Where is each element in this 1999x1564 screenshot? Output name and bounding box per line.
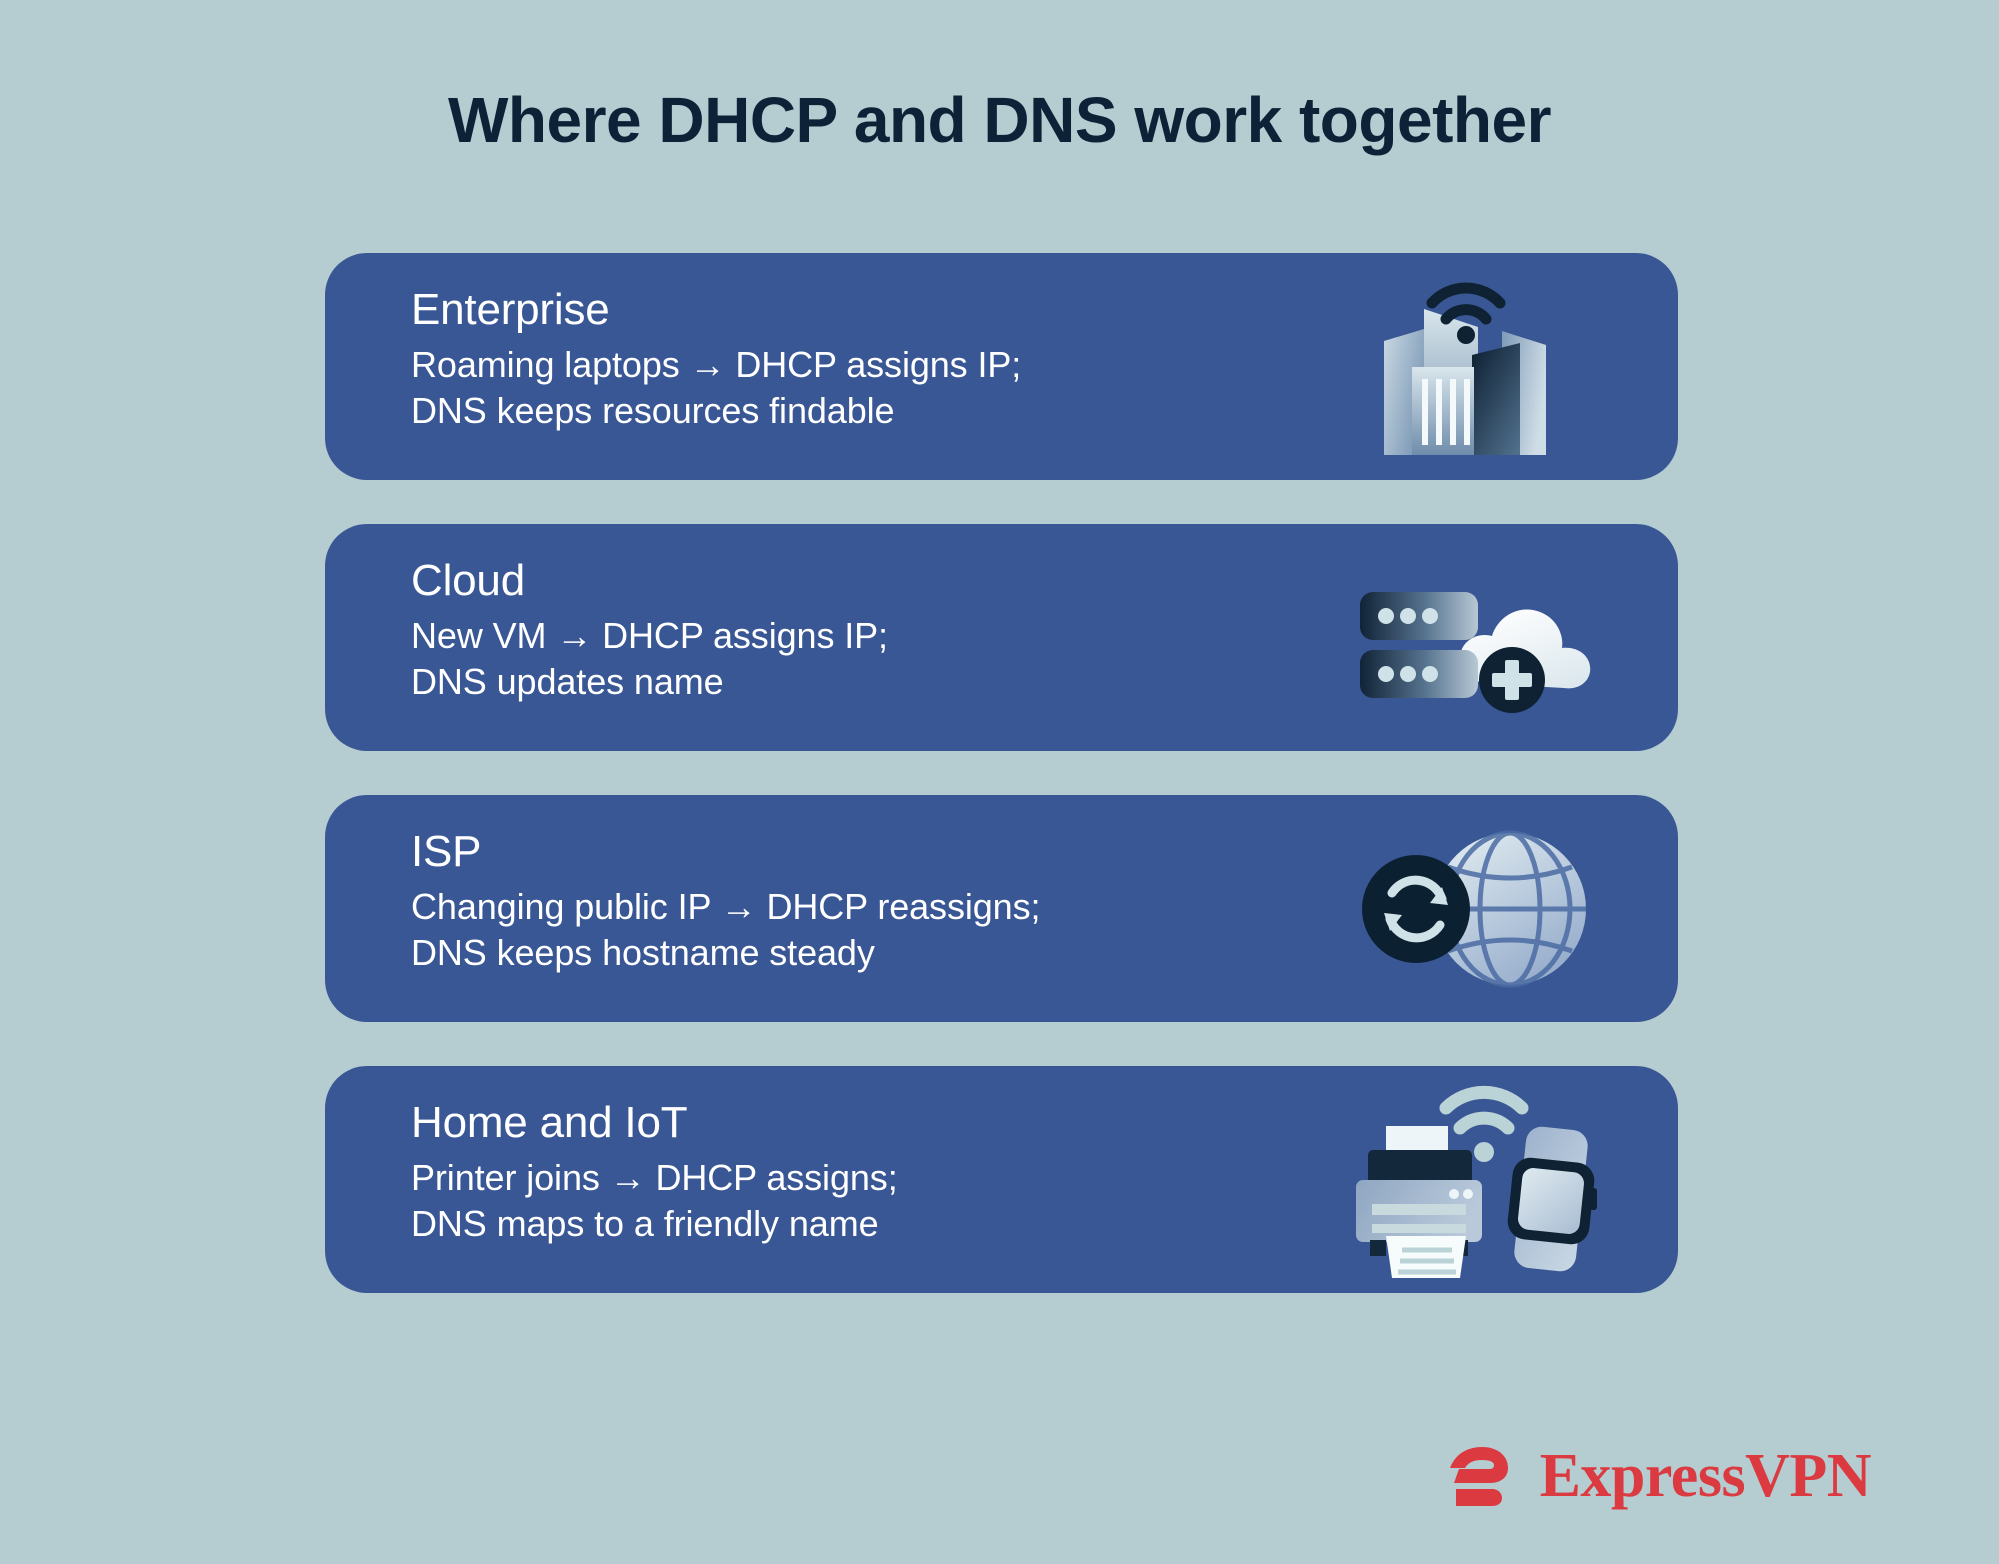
expressvpn-logo[interactable]: ExpressVPN <box>1446 1440 1871 1512</box>
card-description: New VM → DHCP assigns IP; DNS updates na… <box>411 613 1191 704</box>
card-description-line-2: DNS keeps hostname steady <box>411 930 1191 975</box>
card-description-line-1: Roaming laptops → DHCP assigns IP; <box>411 342 1191 387</box>
card-title: Cloud <box>411 556 1191 605</box>
office-building-wifi-icon <box>1350 267 1600 467</box>
card-description-line-2: DNS maps to a friendly name <box>411 1201 1191 1246</box>
card-description: Roaming laptops → DHCP assigns IP; DNS k… <box>411 342 1191 433</box>
expressvpn-logo-mark <box>1446 1440 1518 1512</box>
card-description-line-1: Changing public IP → DHCP reassigns; <box>411 884 1191 929</box>
card-title: Enterprise <box>411 285 1191 334</box>
card-title: ISP <box>411 827 1191 876</box>
card-description-line-1: New VM → DHCP assigns IP; <box>411 613 1191 658</box>
card-text-block: Home and IoT Printer joins → DHCP assign… <box>411 1098 1191 1246</box>
card-text-block: Cloud New VM → DHCP assigns IP; DNS upda… <box>411 556 1191 704</box>
page-title: Where DHCP and DNS work together <box>0 88 1999 152</box>
printer-smartwatch-wifi-icon <box>1350 1080 1600 1280</box>
infographic-canvas: Where DHCP and DNS work together Enterpr… <box>0 0 1999 1564</box>
card-description-line-1: Printer joins → DHCP assigns; <box>411 1155 1191 1200</box>
expressvpn-wordmark: ExpressVPN <box>1540 1445 1871 1507</box>
card-description-line-2: DNS updates name <box>411 659 1191 704</box>
cloud-server-add-icon <box>1350 538 1600 738</box>
card-text-block: Enterprise Roaming laptops → DHCP assign… <box>411 285 1191 433</box>
card-list: Enterprise Roaming laptops → DHCP assign… <box>325 253 1678 1293</box>
card-isp[interactable]: ISP Changing public IP → DHCP reassigns;… <box>325 795 1678 1022</box>
card-description-line-2: DNS keeps resources findable <box>411 388 1191 433</box>
card-home-iot[interactable]: Home and IoT Printer joins → DHCP assign… <box>325 1066 1678 1293</box>
globe-refresh-icon <box>1350 809 1600 1009</box>
card-description: Printer joins → DHCP assigns; DNS maps t… <box>411 1155 1191 1246</box>
card-text-block: ISP Changing public IP → DHCP reassigns;… <box>411 827 1191 975</box>
card-description: Changing public IP → DHCP reassigns; DNS… <box>411 884 1191 975</box>
card-title: Home and IoT <box>411 1098 1191 1147</box>
card-cloud[interactable]: Cloud New VM → DHCP assigns IP; DNS upda… <box>325 524 1678 751</box>
card-enterprise[interactable]: Enterprise Roaming laptops → DHCP assign… <box>325 253 1678 480</box>
